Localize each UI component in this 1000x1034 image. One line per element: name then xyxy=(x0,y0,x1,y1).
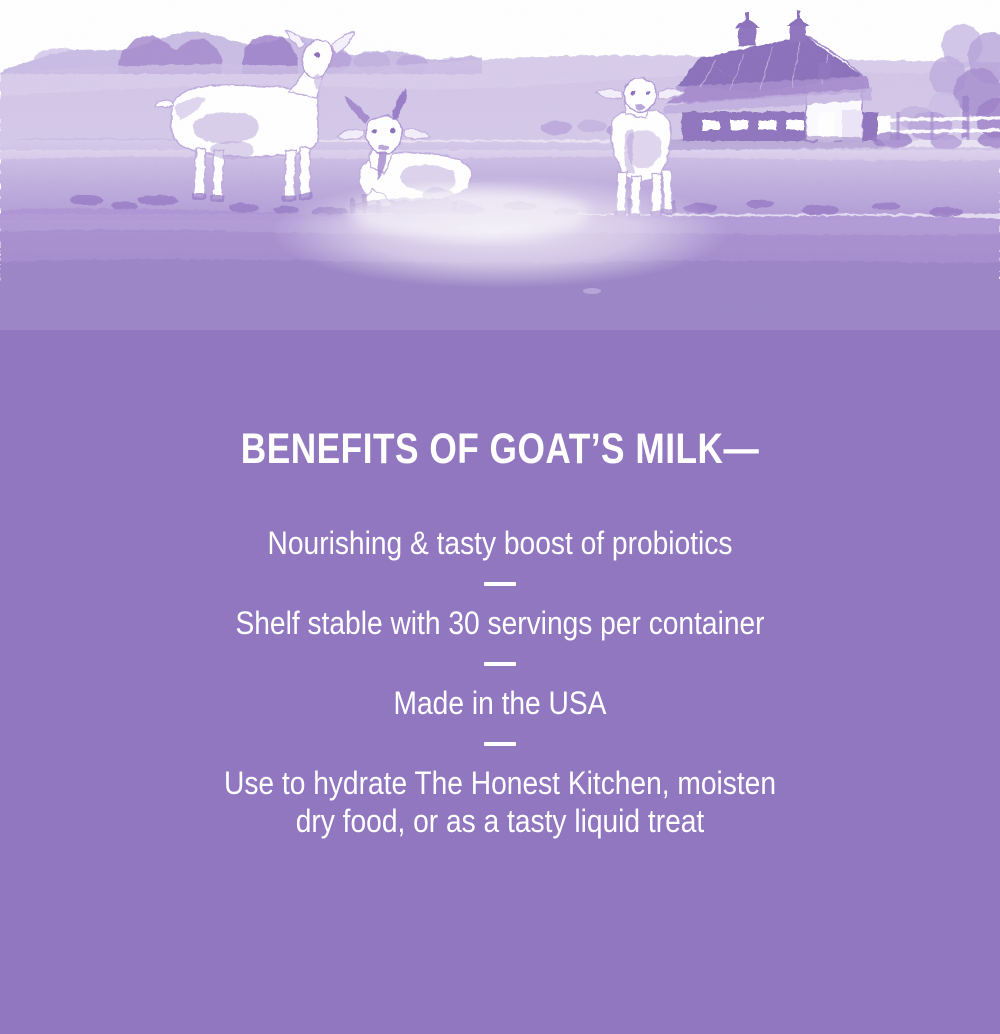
separator-dash-2 xyxy=(484,662,516,666)
benefit-item-3: Made in the USA xyxy=(60,684,940,722)
watercolor-goat-farm-illustration xyxy=(0,0,1000,330)
separator-dash-1 xyxy=(484,582,516,586)
benefits-content: BENEFITS OF GOAT’S MILK— Nourishing & ta… xyxy=(0,330,1000,1034)
product-benefits-panel: BENEFITS OF GOAT’S MILK— Nourishing & ta… xyxy=(0,0,1000,1034)
benefit-item-1: Nourishing & tasty boost of probiotics xyxy=(60,524,940,562)
separator-dash-3 xyxy=(484,742,516,746)
page-title: BENEFITS OF GOAT’S MILK— xyxy=(90,426,910,472)
benefit-item-4-line-2: dry food, or as a tasty liquid treat xyxy=(296,803,705,839)
benefit-item-4: Use to hydrate The Honest Kitchen, moist… xyxy=(60,764,940,840)
benefit-item-4-line-1: Use to hydrate The Honest Kitchen, moist… xyxy=(224,765,776,801)
benefit-item-2: Shelf stable with 30 servings per contai… xyxy=(60,604,940,642)
